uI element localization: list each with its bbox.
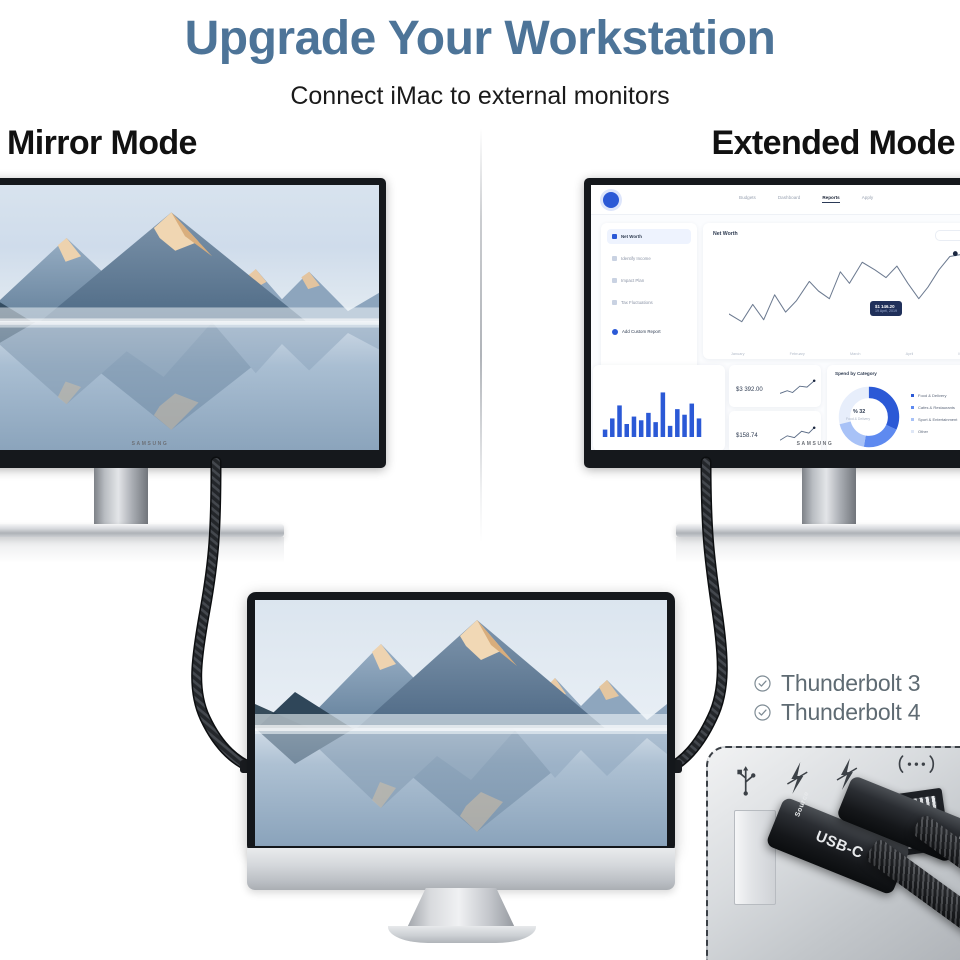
x-tick-0: January xyxy=(731,352,745,356)
feature-label-thunderbolt-4: Thunderbolt 4 xyxy=(781,699,920,726)
right-base-reflection xyxy=(676,537,960,563)
left-monitor-brand-logo: SAMSUNG xyxy=(132,441,169,447)
check-circle-icon xyxy=(753,674,772,693)
right-monitor-neck xyxy=(802,468,856,530)
card-two-value: $158.74 xyxy=(736,433,758,439)
usb-c-hub-inset: USB-C Source xyxy=(706,746,960,960)
sidebar-item-tax-fluctuations[interactable]: Tax Fluctuations xyxy=(607,295,691,310)
donut-center-label: Food & Delivery xyxy=(846,417,870,421)
net-worth-card: Net Worth $1 146.20 19 April, 2019 Janua… xyxy=(703,223,960,359)
sidebar-item-identify-income[interactable]: Identify Income xyxy=(607,251,691,266)
sidebar-label-2: Impact Plan xyxy=(621,278,644,283)
usb-c-plug-label: USB-C xyxy=(813,828,866,862)
donut-title: Spend by Category xyxy=(835,371,877,376)
value-card-one: $3 392.00 xyxy=(729,365,821,407)
x-tick-3: April xyxy=(906,352,914,356)
tax-icon xyxy=(612,300,617,305)
chart-tooltip: $1 146.20 19 April, 2019 xyxy=(870,301,902,316)
income-icon xyxy=(612,256,617,261)
chart-icon xyxy=(612,234,617,239)
right-monitor-base xyxy=(676,524,960,537)
legend-label-1: Cafes & Restaurants xyxy=(918,405,960,410)
legend-swatch xyxy=(911,430,914,433)
donut-legend: Food & Delivery $ 724.15 Cafes & Restaur… xyxy=(911,389,960,437)
legend-label-3: Other xyxy=(918,429,960,434)
usb-a-receptacle xyxy=(734,810,776,905)
legend-swatch xyxy=(911,406,914,409)
page-subtitle: Connect iMac to external monitors xyxy=(0,82,960,111)
sidebar-item-add-custom-report[interactable]: Add Custom Report xyxy=(607,324,691,339)
dashboard-search[interactable] xyxy=(935,230,960,241)
section-divider xyxy=(480,128,482,543)
legend-row: Food & Delivery $ 724.15 xyxy=(911,389,960,401)
card-one-sparkline xyxy=(780,377,816,399)
sidebar-label-1: Identify Income xyxy=(621,256,651,261)
net-worth-line-chart xyxy=(729,245,960,337)
sidebar-item-impact-plan[interactable]: Impact Plan xyxy=(607,273,691,288)
usb-icon xyxy=(737,766,755,795)
nav-tab-1[interactable]: Dashboard xyxy=(778,195,800,203)
legend-row: Sport & Entertainment $ 318.60 xyxy=(911,413,960,425)
sidebar-label-3: Tax Fluctuations xyxy=(621,300,653,305)
imac-chin xyxy=(247,848,675,890)
sidebar-label-0: Net Worth xyxy=(621,234,642,239)
nav-tab-0[interactable]: Budgets xyxy=(739,195,756,203)
app-logo-icon xyxy=(603,192,619,208)
plan-icon xyxy=(612,278,617,283)
card-one-value: $3 392.00 xyxy=(736,387,763,393)
left-monitor-base xyxy=(0,524,284,537)
page-title: Upgrade Your Workstation xyxy=(0,12,960,66)
right-external-monitor: Budgets Dashboard Reports Apply Elise Ed… xyxy=(584,178,960,468)
feature-item-thunderbolt-4: Thunderbolt 4 xyxy=(753,698,920,727)
ethernet-icon xyxy=(900,756,934,772)
imac-bezel xyxy=(247,592,675,854)
nav-tab-2-active[interactable]: Reports xyxy=(822,195,839,203)
feature-label-thunderbolt-3: Thunderbolt 3 xyxy=(781,670,920,697)
net-worth-title: Net Worth xyxy=(713,231,738,237)
legend-label-2: Sport & Entertainment xyxy=(918,417,960,422)
right-monitor-brand-logo: SAMSUNG xyxy=(797,441,834,447)
wallpaper-mountain-lake xyxy=(0,185,379,450)
marketing-graphic: Upgrade Your Workstation Connect iMac to… xyxy=(0,0,960,960)
thunderbolt-icon xyxy=(787,762,807,794)
hub-body: USB-C Source xyxy=(708,748,960,960)
legend-label-0: Food & Delivery xyxy=(918,393,960,398)
spend-by-category-card: Spend by Category % 32 Food & Delivery xyxy=(827,365,960,450)
plus-circle-icon xyxy=(612,329,618,335)
left-base-reflection xyxy=(0,537,284,563)
bar-chart-card xyxy=(593,365,725,450)
check-circle-icon xyxy=(753,703,772,722)
x-tick-1: February xyxy=(790,352,805,356)
spending-bar-chart xyxy=(601,385,713,437)
left-external-monitor: SAMSUNG xyxy=(0,178,386,468)
dashboard-nav-tabs[interactable]: Budgets Dashboard Reports Apply xyxy=(739,195,873,203)
legend-swatch xyxy=(911,394,914,397)
legend-row: Cafes & Restaurants $ 512.40 xyxy=(911,401,960,413)
legend-swatch xyxy=(911,418,914,421)
dashboard-topbar: Budgets Dashboard Reports Apply Elise Ed… xyxy=(591,185,960,215)
dashboard-app: Budgets Dashboard Reports Apply Elise Ed… xyxy=(591,185,960,450)
feature-list: Thunderbolt 3 Thunderbolt 4 xyxy=(753,669,920,727)
sidebar-label-4: Add Custom Report xyxy=(622,329,661,334)
tooltip-date: 19 April, 2019 xyxy=(875,309,897,313)
left-monitor-screen: SAMSUNG xyxy=(0,185,379,450)
sidebar-item-net-worth[interactable]: Net Worth xyxy=(607,229,691,244)
legend-row: Other $ 166.11 xyxy=(911,425,960,437)
left-monitor-neck xyxy=(94,468,148,530)
x-tick-2: March xyxy=(850,352,861,356)
imac-stand-foot xyxy=(388,926,536,943)
right-monitor-screen: Budgets Dashboard Reports Apply Elise Ed… xyxy=(591,185,960,450)
right-monitor-bezel: Budgets Dashboard Reports Apply Elise Ed… xyxy=(584,178,960,468)
extended-mode-label: Extended Mode xyxy=(712,124,955,163)
imac-wallpaper-mountain-lake xyxy=(255,600,667,846)
left-monitor-bezel: SAMSUNG xyxy=(0,178,386,468)
imac-screen xyxy=(255,600,667,846)
imac-stand-neck xyxy=(406,888,516,930)
nav-tab-3[interactable]: Apply xyxy=(862,195,874,203)
x-axis-labels: January February March April May June xyxy=(731,352,960,356)
feature-item-thunderbolt-3: Thunderbolt 3 xyxy=(753,669,920,698)
donut-center-value: % 32 xyxy=(853,409,865,415)
mirror-mode-label: Mirror Mode xyxy=(7,124,197,163)
